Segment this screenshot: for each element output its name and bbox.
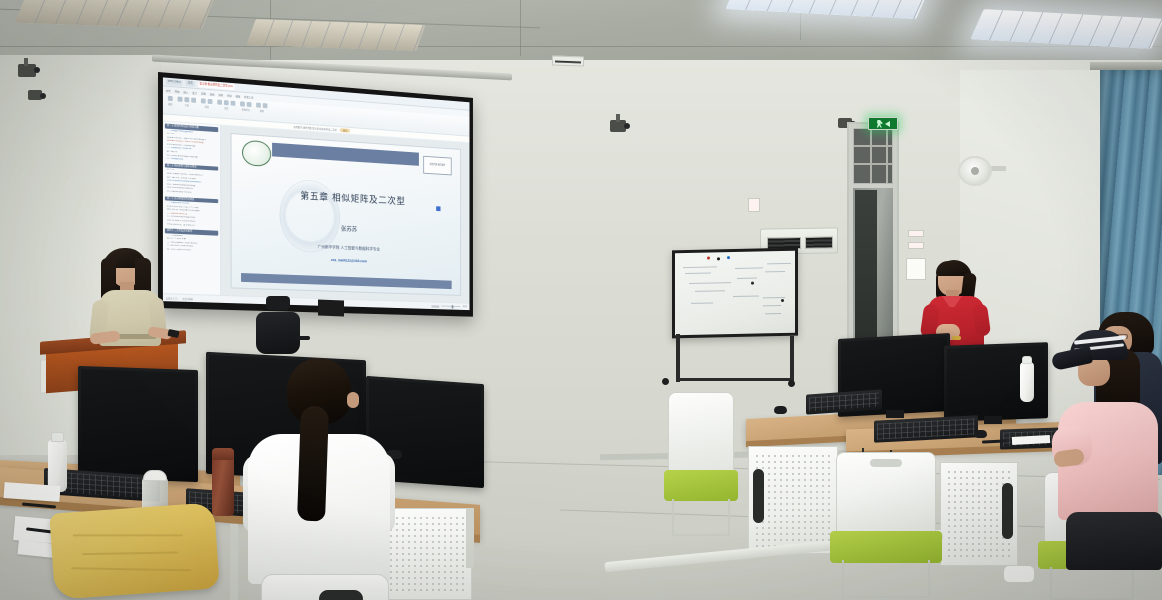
slide-email: zss_math111@163.com [231, 254, 460, 267]
underline-icon[interactable] [191, 98, 196, 103]
menu-item[interactable]: 切换 [201, 91, 206, 95]
ribbon-group: 段落 [201, 98, 213, 109]
whiteboard-caster [662, 378, 669, 385]
arrange-icon[interactable] [224, 100, 229, 105]
jar-lid [143, 470, 167, 481]
curtain-rod [1090, 62, 1162, 70]
cpu-cabinet [940, 462, 1018, 566]
yellow-jacket [49, 502, 220, 599]
ribbon-group: 粘贴 [168, 96, 173, 106]
shoe [1004, 566, 1034, 582]
ribbon-group-label: 形状 [224, 106, 228, 110]
align-left-icon[interactable] [201, 98, 206, 103]
ribbon-group: 快速样式 [240, 101, 251, 112]
wall-notice [908, 230, 924, 237]
thermos-lid [212, 448, 234, 460]
ribbon-group: 形状 [217, 100, 235, 111]
menu-item[interactable]: 视图 [235, 94, 240, 98]
ribbon-group: 字体 [178, 97, 196, 108]
thermos [212, 454, 234, 516]
bottle-cap [1022, 356, 1032, 364]
door-transom-window [853, 128, 893, 184]
bottle-cap [51, 432, 64, 442]
chair[interactable] [668, 392, 734, 536]
menu-item[interactable]: 放映 [218, 92, 223, 96]
whiteboard-surface [675, 251, 795, 336]
title-slide: 线性代数 教学课件 第五章 相似矩阵及二次型 张苏苏 广州新华学院 人工智能与数… [230, 133, 461, 296]
whiteboard-leg [676, 334, 680, 382]
camera-mount [24, 58, 28, 66]
student-person [1052, 330, 1162, 590]
ceiling-grid-line [0, 46, 1162, 47]
running-man-icon [876, 120, 883, 128]
whiteboard-caster [788, 380, 795, 387]
slide-author: 张苏苏 [231, 218, 460, 238]
wall-fan [958, 156, 992, 186]
slide-badge: 线性代数 教学课件 [423, 156, 452, 175]
menu-item[interactable]: 审阅 [227, 93, 232, 97]
mouse[interactable] [774, 406, 787, 414]
shape-icon[interactable] [217, 100, 222, 105]
mouse[interactable] [974, 430, 987, 438]
door-opening [855, 190, 877, 346]
wristwatch [952, 336, 961, 340]
security-camera-icon [28, 90, 42, 100]
slide-badge-text: 线性代数 教学课件 [430, 164, 446, 167]
door-frame [847, 122, 899, 352]
ribbon-group: 编辑 [256, 103, 267, 114]
projection-screen: WPS Office 首页 第五章 相似矩阵及二次型.pptx 文件 开始 插入… [158, 72, 473, 317]
slide-canvas[interactable]: 线性代数 教学课件 第五章 相似矩阵及二次型 张苏苏 广州新华学院 人工智能与数… [221, 125, 469, 302]
desk-leg [230, 524, 238, 600]
monitor-stand [984, 416, 1002, 424]
student-person [243, 358, 395, 600]
italic-icon[interactable] [184, 97, 189, 102]
monitor [78, 366, 198, 482]
ribbon-group-label: 编辑 [260, 109, 264, 113]
camera-mount [616, 114, 620, 122]
ribbon-group-label: 粘贴 [168, 102, 172, 106]
effects-icon[interactable] [247, 102, 252, 107]
menu-item[interactable]: 动画 [210, 92, 215, 96]
select-icon[interactable] [263, 103, 268, 108]
ribbon-group-label: 段落 [205, 105, 209, 109]
ribbon-group-label: 字体 [185, 103, 189, 107]
slide-top-banner [272, 143, 419, 166]
classroom-scene: WPS Office 首页 第五章 相似矩阵及二次型.pptx 文件 开始 插入… [0, 0, 1162, 600]
chair[interactable] [836, 452, 936, 598]
menu-item[interactable]: 插入 [183, 90, 188, 94]
style-icon[interactable] [240, 101, 245, 106]
app-tab[interactable]: 首页 [186, 80, 195, 87]
whiteboard-leg [790, 336, 794, 384]
fan-mount [990, 166, 1006, 171]
fill-icon[interactable] [231, 101, 236, 106]
desk-leg [466, 508, 474, 568]
ceiling-speaker [552, 55, 584, 66]
exit-sign [868, 117, 898, 130]
find-icon[interactable] [256, 103, 261, 108]
text-cursor [437, 207, 441, 212]
water-bottle [48, 440, 67, 492]
zoom-slider[interactable] [442, 306, 461, 307]
wall-notice [748, 198, 760, 212]
projected-display: WPS Office 首页 第五章 相似矩阵及二次型.pptx 文件 开始 插入… [163, 77, 470, 310]
zoom-level[interactable]: 62% [463, 306, 467, 308]
save-button[interactable]: 保存 [340, 128, 350, 133]
arrow-icon [885, 121, 890, 127]
ceiling-grid-line [520, 0, 521, 56]
slide-organization: 广州新华学院 人工智能与数据科学专业 [231, 240, 460, 256]
menu-item[interactable]: 开发工具 [244, 94, 253, 99]
slide-bottom-banner [241, 273, 452, 289]
wall-notice [908, 242, 924, 249]
presenter-person [88, 248, 180, 356]
water-bottle [1020, 362, 1034, 402]
university-logo [242, 139, 271, 167]
align-center-icon[interactable] [208, 99, 213, 104]
monitor-stand [886, 410, 904, 418]
cpu-cabinet [748, 446, 838, 554]
ribbon-group-label: 快速样式 [242, 107, 250, 112]
menu-item[interactable]: 设计 [192, 90, 197, 94]
screen-center-support [318, 300, 344, 317]
menu-item[interactable]: 开始 [175, 89, 180, 93]
whiteboard [672, 248, 798, 339]
language-indicator[interactable]: 中文(中国) [182, 296, 192, 300]
app-tab[interactable]: WPS Office [166, 79, 183, 86]
whiteboard-base [676, 378, 794, 381]
view-mode[interactable]: 普通视图 [431, 304, 439, 308]
ponytail [297, 406, 329, 522]
bold-icon[interactable] [178, 97, 183, 102]
menu-item[interactable]: 文件 [166, 88, 171, 92]
paste-icon[interactable] [168, 96, 173, 101]
